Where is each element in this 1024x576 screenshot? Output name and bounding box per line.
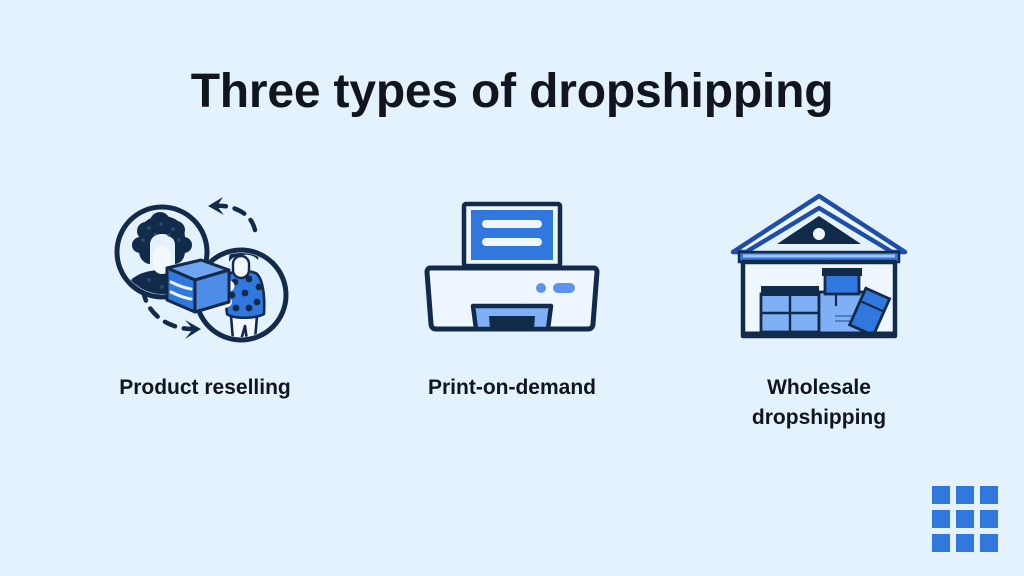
printer-icon (412, 190, 612, 355)
card-label-print-on-demand: Print-on-demand (428, 373, 596, 403)
card-product-reselling[interactable]: Product reselling (60, 190, 350, 403)
logo-cell (956, 510, 974, 528)
logo-cell (932, 534, 950, 552)
logo-cell (980, 534, 998, 552)
card-row: Product reselling (60, 190, 964, 434)
three-by-three-grid-logo (932, 486, 998, 552)
logo-cell (980, 510, 998, 528)
card-wholesale-dropshipping[interactable]: Wholesale dropshipping (674, 190, 964, 434)
logo-cell (956, 534, 974, 552)
logo-cell (980, 486, 998, 504)
card-print-on-demand[interactable]: Print-on-demand (367, 190, 657, 403)
card-label-product-reselling: Product reselling (119, 373, 291, 403)
two-people-exchange-icon (105, 190, 305, 355)
logo-cell (932, 510, 950, 528)
logo-cell (932, 486, 950, 504)
logo-cell (956, 486, 974, 504)
page-title: Three types of dropshipping (0, 64, 1024, 119)
warehouse-icon (719, 190, 919, 355)
card-label-wholesale-dropshipping: Wholesale dropshipping (719, 373, 919, 434)
slide: Three types of dropshipping (0, 0, 1024, 576)
